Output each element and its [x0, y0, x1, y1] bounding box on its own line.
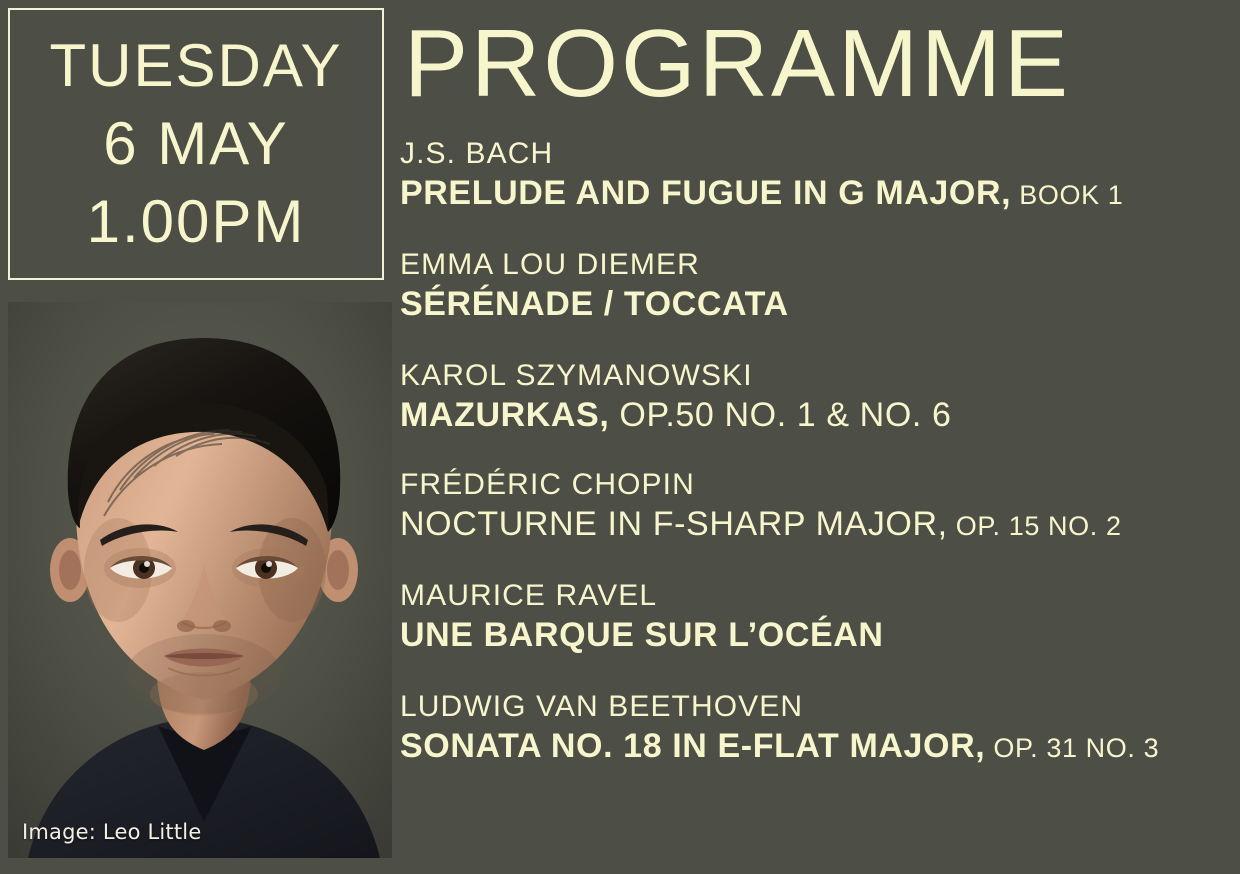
programme-item: LUDWIG VAN BEETHOVEN SONATA NO. 18 IN E-…: [400, 689, 1236, 769]
programme-list: J.S. BACH PRELUDE AND FUGUE IN G MAJOR, …: [400, 136, 1236, 769]
work-title-main: NOCTURNE IN F-SHARP MAJOR,: [400, 505, 948, 543]
work-title-main: MAZURKAS,: [400, 396, 609, 434]
date-time-line: 1.00PM: [87, 183, 306, 261]
work-title-main: SONATA NO. 18 IN E-FLAT MAJOR,: [400, 727, 985, 765]
programme-item: FRÉDÉRIC CHOPIN NOCTURNE IN F-SHARP MAJO…: [400, 467, 1236, 547]
work-title: NOCTURNE IN F-SHARP MAJOR, OP. 15 NO. 2: [400, 503, 1236, 547]
work-title-suffix: OP.50 NO. 1 & NO. 6: [609, 396, 951, 434]
work-title-main: SÉRÉNADE / TOCCATA: [400, 285, 789, 323]
work-title-suffix: BOOK 1: [1011, 180, 1123, 210]
work-title: SONATA NO. 18 IN E-FLAT MAJOR, OP. 31 NO…: [400, 725, 1236, 769]
composer-name: EMMA LOU DIEMER: [400, 247, 1236, 283]
photo-credit-label: Image: Leo Little: [22, 820, 201, 844]
composer-name: J.S. BACH: [400, 136, 1236, 172]
work-title-main: UNE BARQUE SUR L’OCÉAN: [400, 616, 884, 654]
portrait-illustration: [8, 302, 392, 858]
composer-name: MAURICE RAVEL: [400, 578, 1236, 614]
programme-item: EMMA LOU DIEMER SÉRÉNADE / TOCCATA: [400, 247, 1236, 327]
composer-name: FRÉDÉRIC CHOPIN: [400, 467, 1236, 503]
work-title: SÉRÉNADE / TOCCATA: [400, 283, 1236, 327]
concert-programme-poster: TUESDAY 6 MAY 1.00PM: [0, 0, 1240, 874]
work-title-suffix: OP. 31 NO. 3: [985, 733, 1159, 763]
date-time-box: TUESDAY 6 MAY 1.00PM: [8, 8, 384, 280]
work-title: UNE BARQUE SUR L’OCÉAN: [400, 614, 1236, 658]
work-title-suffix: OP. 15 NO. 2: [948, 511, 1122, 541]
date-day-line: TUESDAY: [50, 27, 343, 105]
performer-portrait-photo: Image: Leo Little: [8, 302, 392, 858]
work-title-main: PRELUDE AND FUGUE IN G MAJOR,: [400, 174, 1011, 212]
work-title: PRELUDE AND FUGUE IN G MAJOR, BOOK 1: [400, 172, 1236, 216]
page-title: PROGRAMME: [404, 12, 1071, 116]
work-title: MAZURKAS, OP.50 NO. 1 & NO. 6: [400, 394, 1236, 436]
programme-item: KAROL SZYMANOWSKI MAZURKAS, OP.50 NO. 1 …: [400, 358, 1236, 436]
date-date-line: 6 MAY: [103, 105, 289, 183]
programme-item: J.S. BACH PRELUDE AND FUGUE IN G MAJOR, …: [400, 136, 1236, 216]
composer-name: LUDWIG VAN BEETHOVEN: [400, 689, 1236, 725]
composer-name: KAROL SZYMANOWSKI: [400, 358, 1236, 394]
programme-item: MAURICE RAVEL UNE BARQUE SUR L’OCÉAN: [400, 578, 1236, 658]
